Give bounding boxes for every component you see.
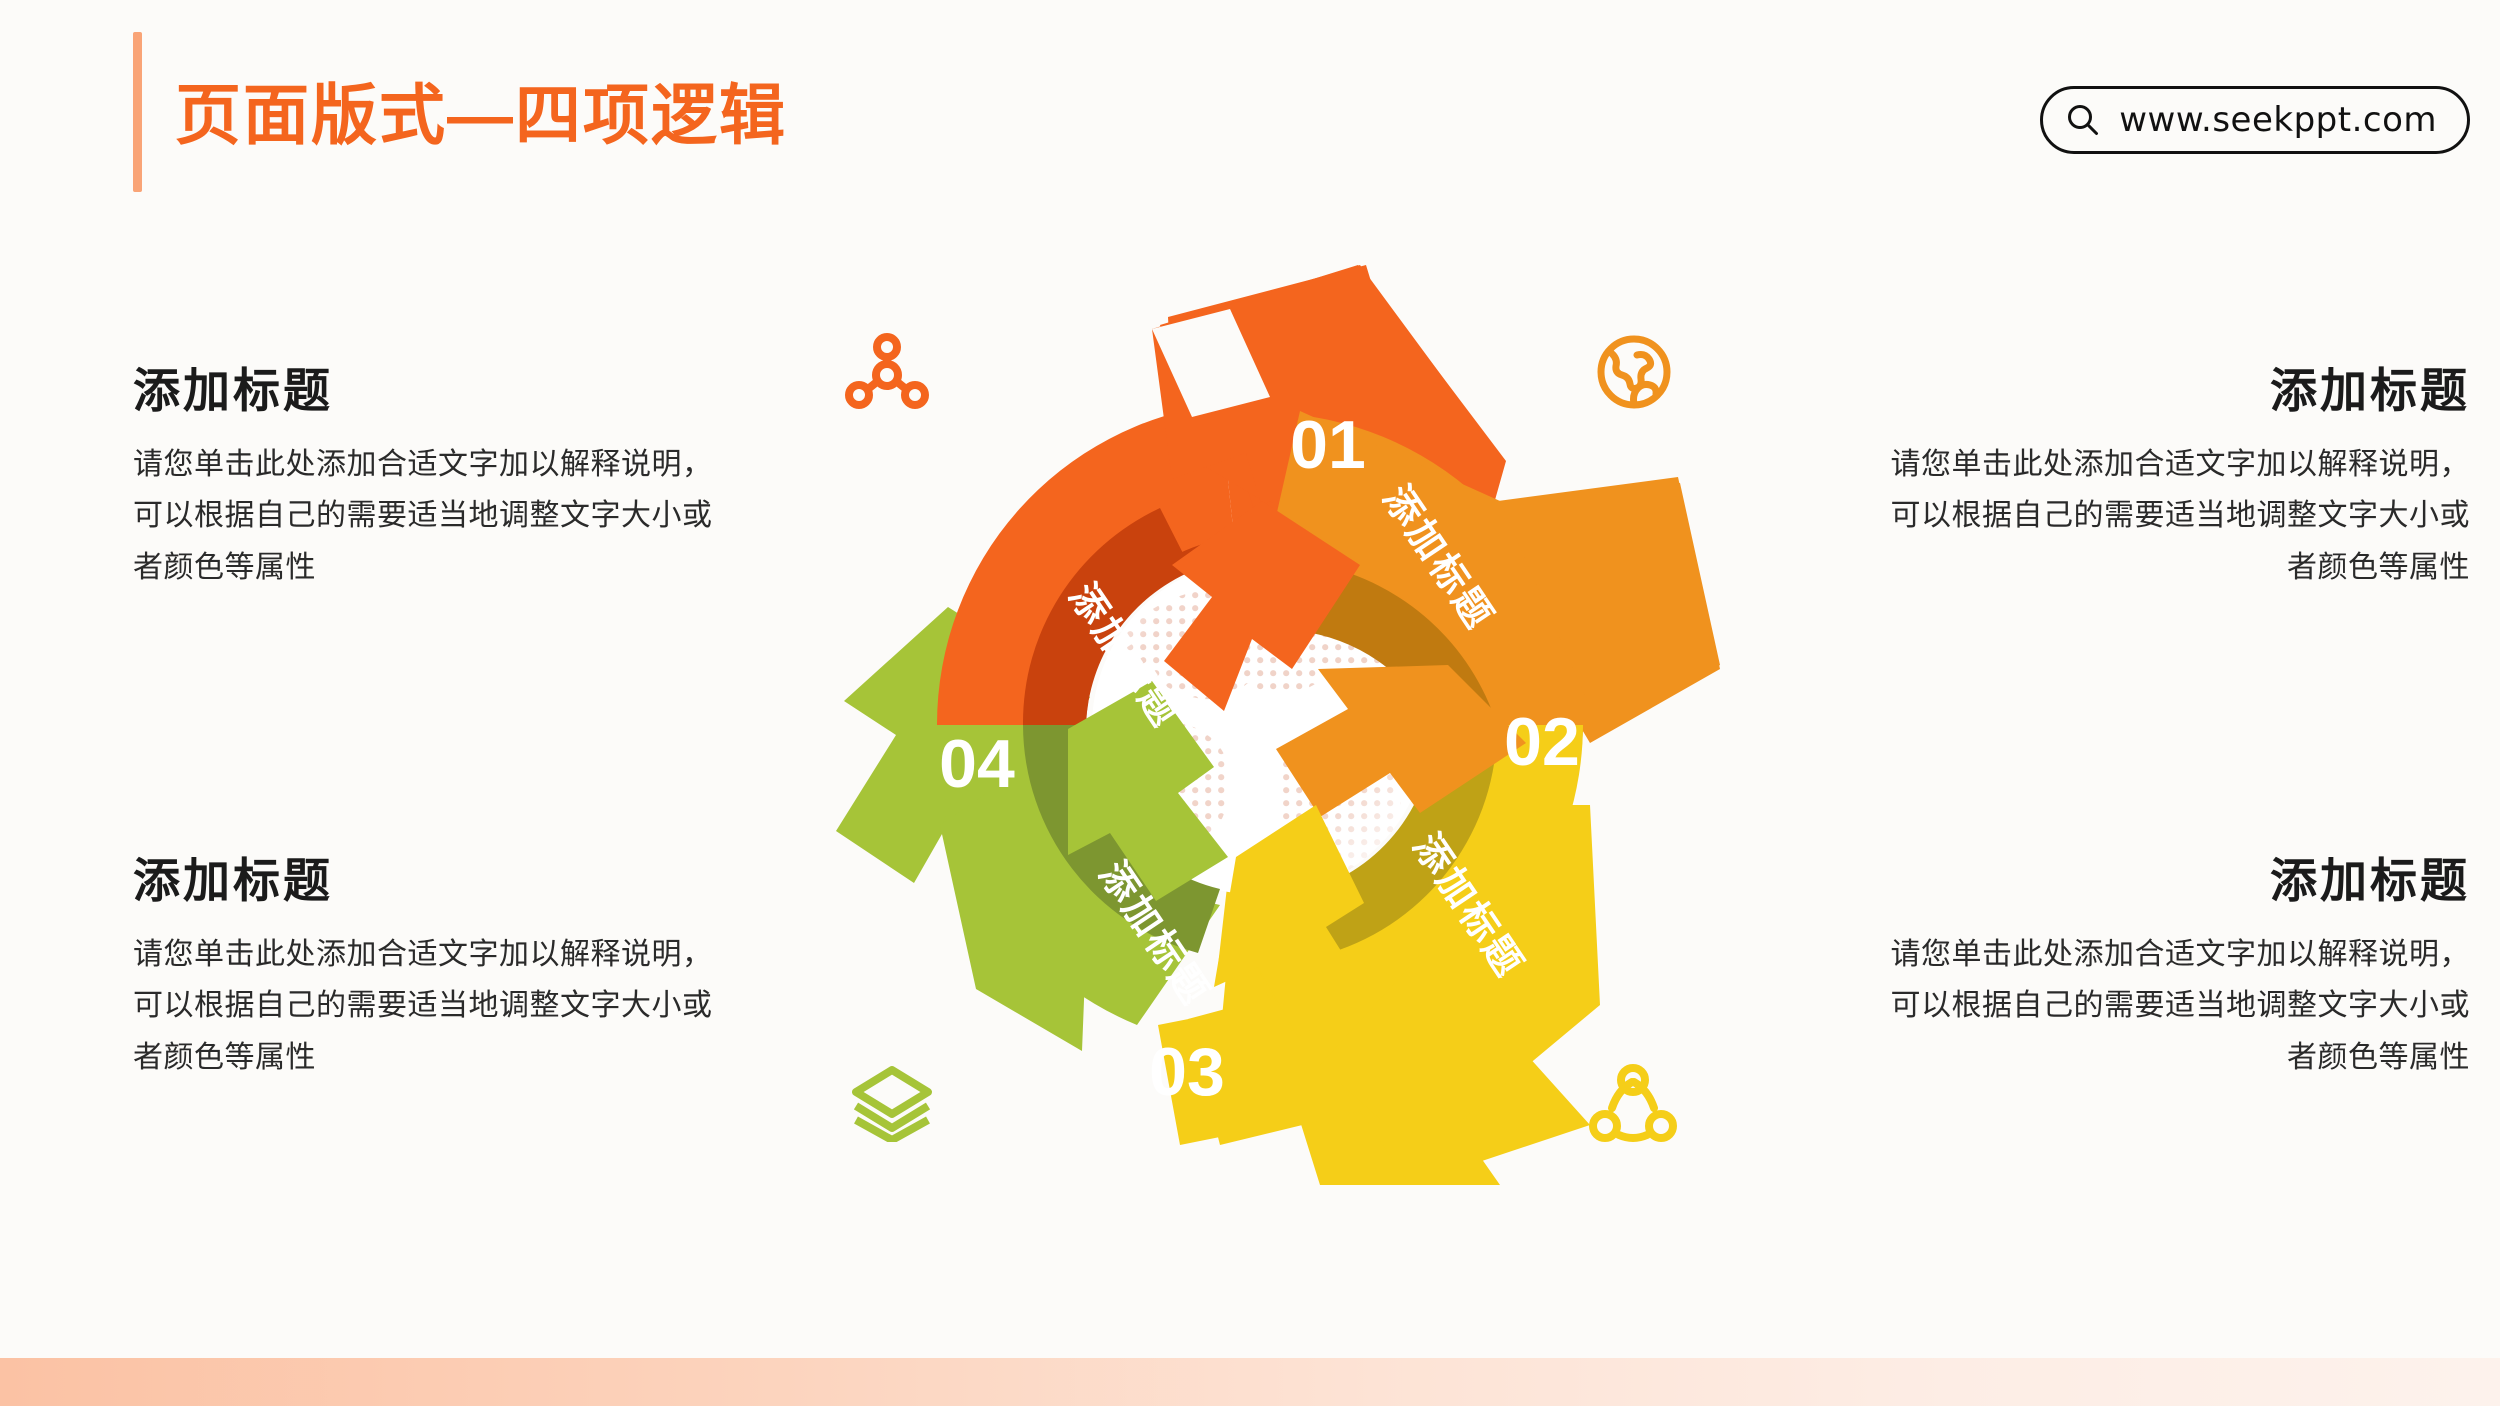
title-accent-bar <box>133 32 142 192</box>
footer-gradient-bar <box>0 1358 2500 1406</box>
block-body: 请您单击此处添加合适文字加以解释说明，可以根据自己的需要适当地调整文字大小或者颜… <box>133 439 713 594</box>
search-icon <box>2065 102 2101 138</box>
block-body: 请您单击此处添加合适文字加以解释说明，可以根据自己的需要适当地调整文字大小或者颜… <box>133 929 713 1084</box>
block-heading: 添加标题 <box>1890 365 2470 417</box>
block-heading: 添加标题 <box>133 855 713 907</box>
layers-icon <box>848 1062 936 1147</box>
cycle-diagram: 01 02 03 04 添加标题 添加标题 添加标题 添加标题 <box>800 265 1720 1185</box>
network-icon <box>845 333 929 422</box>
page-title: 页面版式—四项逻辑 <box>175 82 787 148</box>
segment-number-03: 03 <box>1149 1034 1225 1110</box>
block-heading: 添加标题 <box>133 365 713 417</box>
segment-number-02: 02 <box>1504 704 1580 780</box>
page-header: 页面版式—四项逻辑 www.seekppt.com <box>0 0 2500 210</box>
url-badge-text: www.seekppt.com <box>2119 100 2437 140</box>
block-body: 请您单击此处添加合适文字加以解释说明，可以根据自己的需要适当地调整文字大小或者颜… <box>1890 439 2470 594</box>
text-block-bottom-right: 添加标题 请您单击此处添加合适文字加以解释说明，可以根据自己的需要适当地调整文字… <box>1890 855 2470 1083</box>
segment-number-01: 01 <box>1290 407 1366 483</box>
share-icon <box>1588 1062 1678 1151</box>
globe-icon <box>1592 330 1676 419</box>
text-block-top-left: 添加标题 请您单击此处添加合适文字加以解释说明，可以根据自己的需要适当地调整文字… <box>133 365 713 593</box>
block-heading: 添加标题 <box>1890 855 2470 907</box>
text-block-bottom-left: 添加标题 请您单击此处添加合适文字加以解释说明，可以根据自己的需要适当地调整文字… <box>133 855 713 1083</box>
segment-number-04: 04 <box>939 726 1015 802</box>
url-badge[interactable]: www.seekppt.com <box>2040 86 2470 154</box>
block-body: 请您单击此处添加合适文字加以解释说明，可以根据自己的需要适当地调整文字大小或者颜… <box>1890 929 2470 1084</box>
text-block-top-right: 添加标题 请您单击此处添加合适文字加以解释说明，可以根据自己的需要适当地调整文字… <box>1890 365 2470 593</box>
